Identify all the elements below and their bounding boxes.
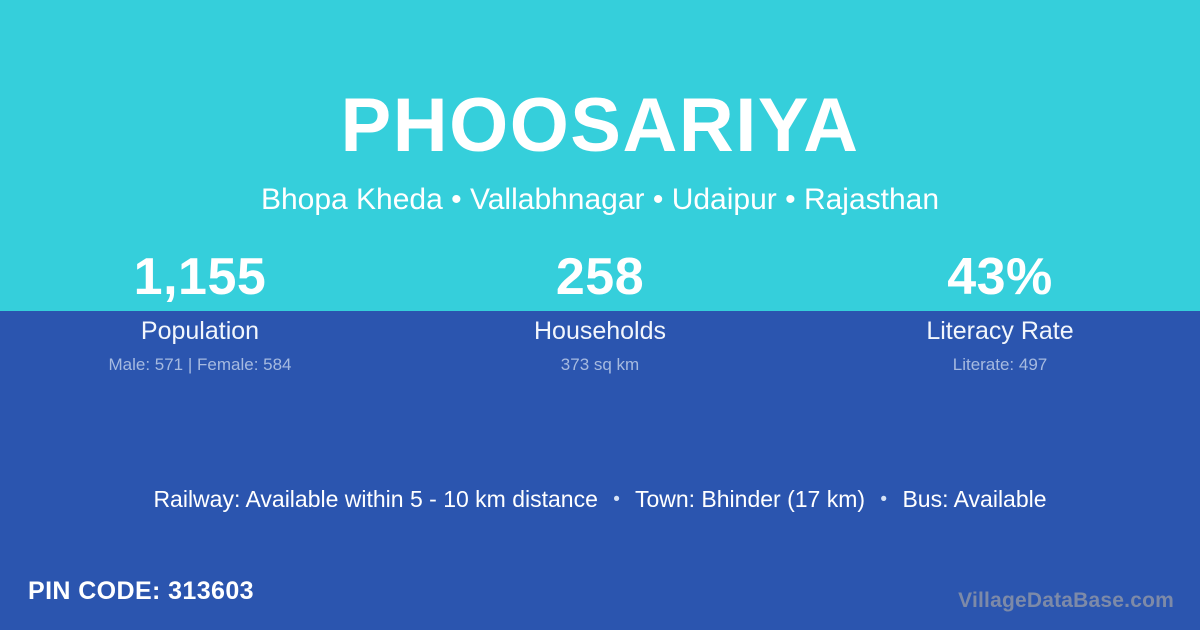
page-title: PHOOSARIYA [0, 84, 1200, 168]
breadcrumb: Bhopa Kheda • Vallabhnagar • Udaipur • R… [0, 182, 1200, 218]
amenity-separator-2: • [871, 485, 896, 515]
amenity-bus: Bus: Available [902, 486, 1046, 512]
amenities-line: Railway: Available within 5 - 10 km dist… [0, 484, 1200, 515]
village-info-card: PHOOSARIYA Bhopa Kheda • Vallabhnagar • … [0, 0, 1200, 630]
stat-population-value: 1,155 [0, 248, 400, 306]
amenity-town: Town: Bhinder (17 km) [635, 486, 865, 512]
stat-population-sub: Male: 571 | Female: 584 [0, 355, 400, 375]
amenity-railway: Railway: Available within 5 - 10 km dist… [153, 486, 597, 512]
site-watermark: VillageDataBase.com [958, 588, 1174, 613]
stat-population: 1,155 Population Male: 571 | Female: 584 [0, 248, 400, 383]
stat-households-sub: 373 sq km [400, 355, 800, 375]
stats-row: 1,155 Population Male: 571 | Female: 584… [0, 248, 1200, 383]
amenity-separator-1: • [604, 485, 629, 515]
stat-literacy-rate-label: Literacy Rate [800, 317, 1200, 346]
stat-literacy-rate-value: 43% [800, 248, 1200, 306]
stat-households: 258 Households 373 sq km [400, 248, 800, 383]
stat-literacy-rate-sub: Literate: 497 [800, 355, 1200, 375]
stat-population-label: Population [0, 317, 400, 346]
stat-households-value: 258 [400, 248, 800, 306]
stat-literacy-rate: 43% Literacy Rate Literate: 497 [800, 248, 1200, 383]
stat-households-label: Households [400, 317, 800, 346]
pin-code: PIN CODE: 313603 [28, 576, 254, 606]
